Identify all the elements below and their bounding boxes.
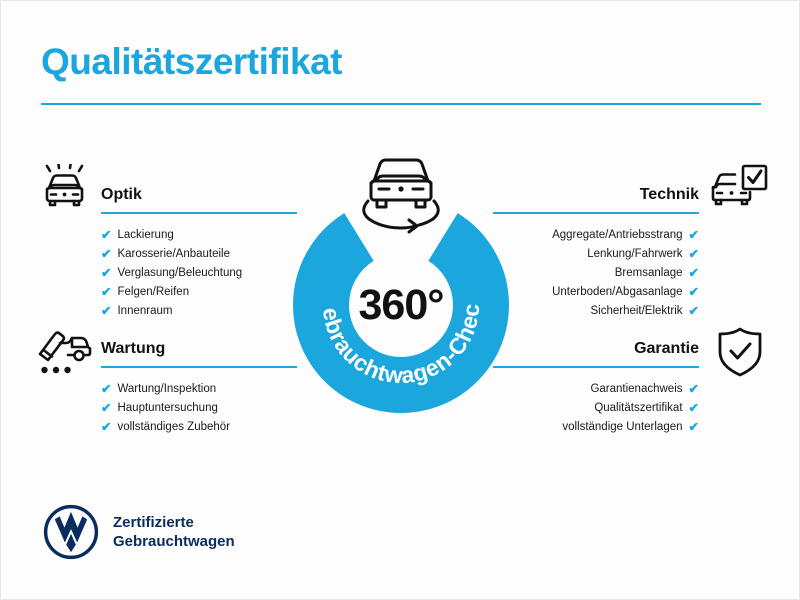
section-divider xyxy=(101,366,297,368)
gebrauchtwagen-check-badge: Gebrauchtwagen-Check 360° xyxy=(293,197,509,413)
section-wartung: Wartung ✔Wartung/Inspektion ✔Hauptunters… xyxy=(101,341,297,437)
list-item: Aggregate/Antriebsstrang✔ xyxy=(493,226,699,245)
section-heading: Optik xyxy=(101,187,297,203)
header-divider xyxy=(41,103,761,105)
section-technik: Technik Aggregate/Antriebsstrang✔ Lenkun… xyxy=(493,187,699,321)
list-item: ✔Innenraum xyxy=(101,302,297,321)
list-item-label: vollständige Unterlagen xyxy=(562,418,682,437)
check-icon: ✔ xyxy=(101,305,111,318)
check-icon: ✔ xyxy=(689,229,699,242)
list-item-label: vollständiges Zubehör xyxy=(117,418,230,437)
list-item-label: Lenkung/Fahrwerk xyxy=(587,245,682,264)
check-icon: ✔ xyxy=(101,286,111,299)
check-icon: ✔ xyxy=(689,267,699,280)
list-item-label: Unterboden/Abgasanlage xyxy=(552,283,682,302)
list-item: Garantienachweis✔ xyxy=(493,380,699,399)
vw-footer-text: Zertifizierte Gebrauchtwagen xyxy=(113,513,235,551)
list-item-label: Innenraum xyxy=(117,302,172,321)
car-360-rotation-icon xyxy=(349,149,453,235)
list-item: ✔Hauptuntersuchung xyxy=(101,399,297,418)
list-item: Qualitätszertifikat✔ xyxy=(493,399,699,418)
check-icon: ✔ xyxy=(689,248,699,261)
check-icon: ✔ xyxy=(101,248,111,261)
list-item: Unterboden/Abgasanlage✔ xyxy=(493,283,699,302)
list-item: Sicherheit/Elektrik✔ xyxy=(493,302,699,321)
shield-check-icon xyxy=(715,326,765,383)
section-divider xyxy=(493,212,699,214)
car-front-shine-icon xyxy=(37,164,93,221)
section-optik: Optik ✔Lackierung ✔Karosserie/Anbauteile… xyxy=(101,187,297,321)
list-item: Lenkung/Fahrwerk✔ xyxy=(493,245,699,264)
vw-footer-line1: Zertifizierte xyxy=(113,513,235,532)
check-icon: ✔ xyxy=(689,383,699,396)
vw-footer-line2: Gebrauchtwagen xyxy=(113,532,235,551)
check-icon: ✔ xyxy=(101,229,111,242)
check-icon: ✔ xyxy=(101,267,111,280)
section-heading: Garantie xyxy=(493,341,699,357)
list-item-label: Karosserie/Anbauteile xyxy=(117,245,230,264)
page-title: Qualitätszertifikat xyxy=(41,41,342,83)
list-item-label: Aggregate/Antriebsstrang xyxy=(552,226,682,245)
list-item-label: Qualitätszertifikat xyxy=(594,399,682,418)
list-item-label: Garantienachweis xyxy=(590,380,682,399)
check-icon: ✔ xyxy=(101,402,111,415)
checklist-wartung: ✔Wartung/Inspektion ✔Hauptuntersuchung ✔… xyxy=(101,380,297,437)
car-front-checkbox-icon xyxy=(709,164,769,221)
list-item-label: Felgen/Reifen xyxy=(117,283,189,302)
list-item-label: Sicherheit/Elektrik xyxy=(590,302,682,321)
car-service-tool-icon xyxy=(37,326,93,381)
checklist-optik: ✔Lackierung ✔Karosserie/Anbauteile ✔Verg… xyxy=(101,226,297,321)
list-item: ✔Karosserie/Anbauteile xyxy=(101,245,297,264)
list-item: ✔vollständiges Zubehör xyxy=(101,418,297,437)
check-icon: ✔ xyxy=(689,305,699,318)
certificate-page: Qualitätszertifikat Optik ✔Lackierung ✔K… xyxy=(0,0,800,600)
section-heading: Wartung xyxy=(101,341,297,357)
checklist-technik: Aggregate/Antriebsstrang✔ Lenkung/Fahrwe… xyxy=(493,226,699,321)
list-item: vollständige Unterlagen✔ xyxy=(493,418,699,437)
list-item: ✔Lackierung xyxy=(101,226,297,245)
section-divider xyxy=(101,212,297,214)
check-icon: ✔ xyxy=(689,286,699,299)
list-item: ✔Felgen/Reifen xyxy=(101,283,297,302)
list-item-label: Bremsanlage xyxy=(615,264,683,283)
list-item-label: Wartung/Inspektion xyxy=(117,380,216,399)
check-icon: ✔ xyxy=(689,402,699,415)
section-divider xyxy=(493,366,699,368)
checklist-garantie: Garantienachweis✔ Qualitätszertifikat✔ v… xyxy=(493,380,699,437)
list-item: Bremsanlage✔ xyxy=(493,264,699,283)
volkswagen-logo xyxy=(43,504,99,560)
section-heading: Technik xyxy=(493,187,699,203)
list-item-label: Verglasung/Beleuchtung xyxy=(117,264,242,283)
check-icon: ✔ xyxy=(101,383,111,396)
vw-footer: Zertifizierte Gebrauchtwagen xyxy=(43,504,235,560)
list-item: ✔Verglasung/Beleuchtung xyxy=(101,264,297,283)
section-garantie: Garantie Garantienachweis✔ Qualitätszert… xyxy=(493,341,699,437)
check-icon: ✔ xyxy=(689,421,699,434)
list-item: ✔Wartung/Inspektion xyxy=(101,380,297,399)
list-item-label: Lackierung xyxy=(117,226,173,245)
check-icon: ✔ xyxy=(101,421,111,434)
list-item-label: Hauptuntersuchung xyxy=(117,399,217,418)
